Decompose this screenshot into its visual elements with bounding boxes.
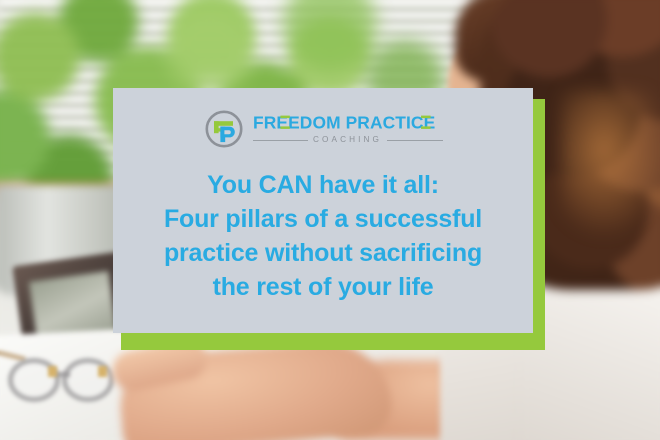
headline-line-1: You CAN have it all: bbox=[135, 168, 511, 202]
promo-card-group: FREEDOM PRACTICE COACHING You CAN have i… bbox=[113, 88, 545, 350]
promo-card: FREEDOM PRACTICE COACHING You CAN have i… bbox=[113, 88, 533, 333]
svg-text:FREEDOM PRACTICE: FREEDOM PRACTICE bbox=[253, 113, 435, 132]
brand-name-secondary: COACHING bbox=[253, 136, 443, 144]
headline-line-2: Four pillars of a successful bbox=[135, 202, 511, 236]
eyeglasses-lens-left bbox=[8, 358, 60, 402]
eyeglasses-lens-right bbox=[62, 358, 114, 402]
brand-name-primary: FREEDOM PRACTICE bbox=[253, 113, 443, 133]
freedom-practice-text: FREEDOM PRACTICE bbox=[253, 113, 443, 133]
person-hair-highlight bbox=[560, 90, 660, 240]
brand-rule-left bbox=[253, 140, 309, 141]
brand-wordmark: FREEDOM PRACTICE COACHING bbox=[253, 113, 443, 144]
brand-logo: FREEDOM PRACTICE COACHING bbox=[204, 109, 443, 149]
eyeglasses-bridge bbox=[56, 372, 70, 377]
headline-line-3: practice without sacrificing bbox=[135, 236, 511, 270]
eyeglasses-hinge-right bbox=[98, 366, 107, 377]
headline: You CAN have it all: Four pillars of a s… bbox=[135, 168, 511, 304]
brand-rule-right bbox=[387, 140, 443, 141]
brand-coaching-label: COACHING bbox=[313, 136, 382, 144]
eyeglasses-hinge-left bbox=[48, 366, 57, 377]
fpc-monogram-icon bbox=[204, 109, 244, 149]
headline-line-4: the rest of your life bbox=[135, 270, 511, 304]
